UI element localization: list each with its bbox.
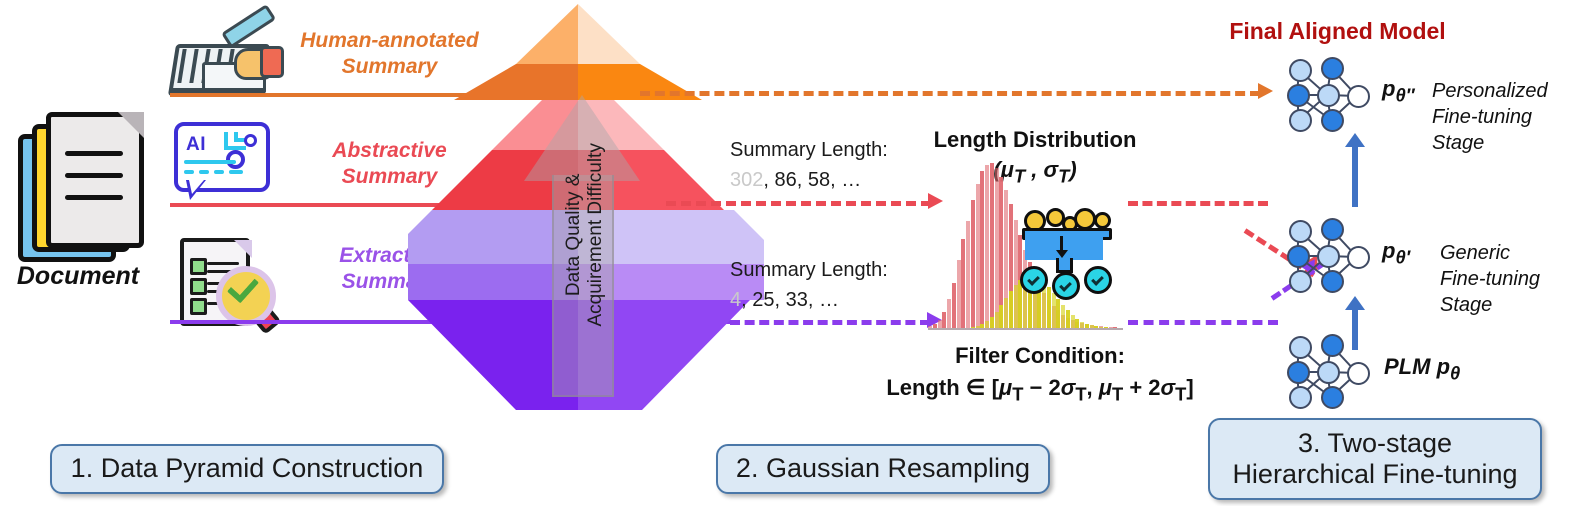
histogram-bar xyxy=(980,171,984,328)
dashed-flow-extractive-out xyxy=(1128,320,1278,325)
network-node xyxy=(1289,336,1312,359)
filter-condition-title: Filter Condition: xyxy=(845,340,1235,372)
pyramid-tier-human-right-light xyxy=(578,4,640,64)
histogram-bar xyxy=(952,283,956,328)
generic-stage-label: Generic Fine-tuning Stage xyxy=(1440,240,1570,318)
histogram-bar xyxy=(957,260,961,328)
histogram-bar xyxy=(976,184,980,328)
document-stack-icon xyxy=(18,112,136,260)
histogram-bar xyxy=(985,321,989,328)
network-node xyxy=(1287,245,1310,268)
data-quality-arrow-label: Data Quality & Acquirement Difficulty xyxy=(563,122,607,348)
generic-model-plabel: pθ′ xyxy=(1382,238,1410,268)
histogram-bar xyxy=(1014,285,1018,328)
summary-length-extractive: Summary Length: 4, 25, 33, … xyxy=(730,255,888,315)
caption-3: 3. Two-stage Hierarchical Fine-tuning xyxy=(1208,418,1542,500)
histogram-bar xyxy=(1009,291,1013,328)
filter-condition-formula: Length ∈ [μT − 2σT, μT + 2σT] xyxy=(845,372,1235,408)
personalized-model-plabel: pθ″ xyxy=(1382,76,1414,106)
histogram-bar xyxy=(985,165,989,328)
blue-arrow-upper-head xyxy=(1345,133,1365,147)
personalized-stage-label: Personalized Fine-tuning Stage xyxy=(1432,78,1570,156)
distribution-axis xyxy=(928,328,1123,330)
blue-arrow-lower-head xyxy=(1345,296,1365,310)
dashed-flow-abstractive-out xyxy=(1128,201,1268,206)
histogram-bar xyxy=(1052,293,1056,328)
histogram-bar xyxy=(1056,299,1060,328)
network-node xyxy=(1289,220,1312,243)
summary-length-label-extractive: Summary Length: xyxy=(730,255,888,285)
histogram-bar xyxy=(1004,298,1008,328)
dashed-flow-extractive-in xyxy=(730,320,930,325)
summary-length-abstractive: Summary Length: 302, 86, 58, … xyxy=(730,135,888,195)
histogram-bar xyxy=(947,299,951,328)
network-node xyxy=(1317,361,1340,384)
abstractive-outlier-value: 302 xyxy=(730,169,763,191)
plm-model-network-icon xyxy=(1287,334,1373,408)
length-distribution-title-line1: Length Distribution xyxy=(905,125,1165,155)
document-magnifier-check-icon xyxy=(174,236,278,326)
histogram-bar xyxy=(995,312,999,329)
network-node xyxy=(1321,109,1344,132)
funnel-stem xyxy=(1056,258,1073,273)
summary-length-label-abstractive: Summary Length: xyxy=(730,135,888,165)
histogram-bar xyxy=(1075,319,1079,328)
handwriting-annotation-icon xyxy=(168,22,280,94)
network-node xyxy=(1321,57,1344,80)
final-aligned-model-title: Final Aligned Model xyxy=(1210,18,1465,45)
histogram-bar xyxy=(990,163,994,328)
histogram-bar xyxy=(1066,310,1070,328)
personalized-stage-line2: Fine-tuning Stage xyxy=(1432,104,1570,156)
network-node xyxy=(1347,362,1370,385)
page-fold-corner xyxy=(118,112,144,138)
histogram-bar xyxy=(942,312,946,329)
blue-arrow-upper xyxy=(1352,145,1358,207)
generic-stage-line1: Generic xyxy=(1440,240,1570,266)
network-node xyxy=(1347,246,1370,269)
network-node xyxy=(1321,386,1344,409)
caption-3-line1: 3. Two-stage xyxy=(1298,428,1452,459)
network-node xyxy=(1317,245,1340,268)
dashed-flow-human-arrowhead xyxy=(1258,83,1273,99)
network-node xyxy=(1321,218,1344,241)
document-label: Document xyxy=(8,262,148,291)
network-node xyxy=(1321,334,1344,357)
network-node xyxy=(1289,270,1312,293)
caption-3-line2: Hierarchical Fine-tuning xyxy=(1232,459,1517,490)
histogram-bar xyxy=(995,168,999,328)
network-node xyxy=(1321,270,1344,293)
network-node xyxy=(1347,85,1370,108)
histogram-bar xyxy=(990,317,994,328)
funnel-filter-icon xyxy=(1020,208,1112,292)
personalized-model-network-icon xyxy=(1287,57,1373,131)
blue-arrow-lower xyxy=(1352,308,1358,350)
generic-model-network-icon xyxy=(1287,218,1373,292)
plm-model-plabel: PLM pθ xyxy=(1384,354,1460,384)
network-node xyxy=(1317,84,1340,107)
histogram-bar xyxy=(1071,315,1075,328)
histogram-bar xyxy=(1061,305,1065,328)
arrow-label-line1: Data Quality & xyxy=(563,122,585,348)
caption-2: 2. Gaussian Resampling xyxy=(716,444,1050,494)
arrow-label-line2: Acquirement Difficulty xyxy=(585,122,607,348)
abstractive-length-values: , 86, 58, … xyxy=(763,169,861,191)
histogram-bar xyxy=(1047,287,1051,328)
network-node xyxy=(1289,59,1312,82)
extractive-outlier-value: 4 xyxy=(730,289,741,311)
histogram-bar xyxy=(971,200,975,328)
histogram-bar xyxy=(938,320,942,328)
network-node xyxy=(1289,386,1312,409)
data-quality-arrow: Data Quality & Acquirement Difficulty xyxy=(524,95,640,395)
ai-speech-bubble-icon: AI xyxy=(172,120,272,202)
caption-1: 1. Data Pyramid Construction xyxy=(50,444,444,494)
document-sheet-front xyxy=(46,112,144,248)
histogram-bar xyxy=(966,221,970,328)
pyramid-tier-human-left-light xyxy=(516,4,578,64)
dashed-flow-human xyxy=(640,91,1260,96)
histogram-bar xyxy=(999,305,1003,328)
network-node xyxy=(1287,84,1310,107)
network-node xyxy=(1289,109,1312,132)
filter-condition: Filter Condition: Length ∈ [μT − 2σT, μT… xyxy=(845,340,1235,408)
personalized-stage-line1: Personalized xyxy=(1432,78,1570,104)
extractive-length-values: , 25, 33, … xyxy=(741,289,839,311)
network-node xyxy=(1287,361,1310,384)
histogram-bar xyxy=(961,239,965,328)
dashed-flow-abstractive-in xyxy=(666,201,931,206)
generic-stage-line2: Fine-tuning Stage xyxy=(1440,266,1570,318)
